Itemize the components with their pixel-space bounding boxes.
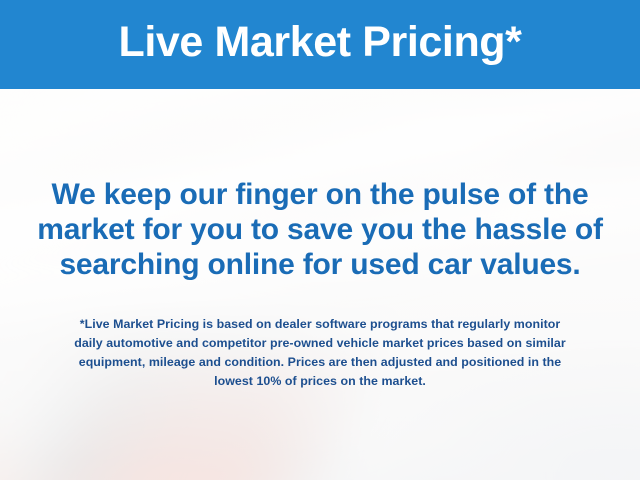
disclaimer-text: *Live Market Pricing is based on dealer …: [0, 315, 640, 391]
live-market-pricing-card: Live Market Pricing* We keep our finger …: [0, 0, 640, 480]
page-title: Live Market Pricing*: [118, 21, 521, 68]
disclaimer-line-2: daily automotive and competitor pre-owne…: [28, 334, 612, 353]
header-banner: Live Market Pricing*: [0, 0, 640, 89]
headline-line-1: We keep our finger on the pulse of the: [22, 177, 618, 212]
disclaimer-line-4: lowest 10% of prices on the market.: [28, 372, 612, 391]
disclaimer-line-1: *Live Market Pricing is based on dealer …: [28, 315, 612, 334]
disclaimer-line-3: equipment, mileage and condition. Prices…: [28, 353, 612, 372]
headline-line-3: searching online for used car values.: [22, 247, 618, 282]
content-area: We keep our finger on the pulse of the m…: [0, 89, 640, 480]
headline: We keep our finger on the pulse of the m…: [0, 177, 640, 282]
headline-line-2: market for you to save you the hassle of: [22, 212, 618, 247]
